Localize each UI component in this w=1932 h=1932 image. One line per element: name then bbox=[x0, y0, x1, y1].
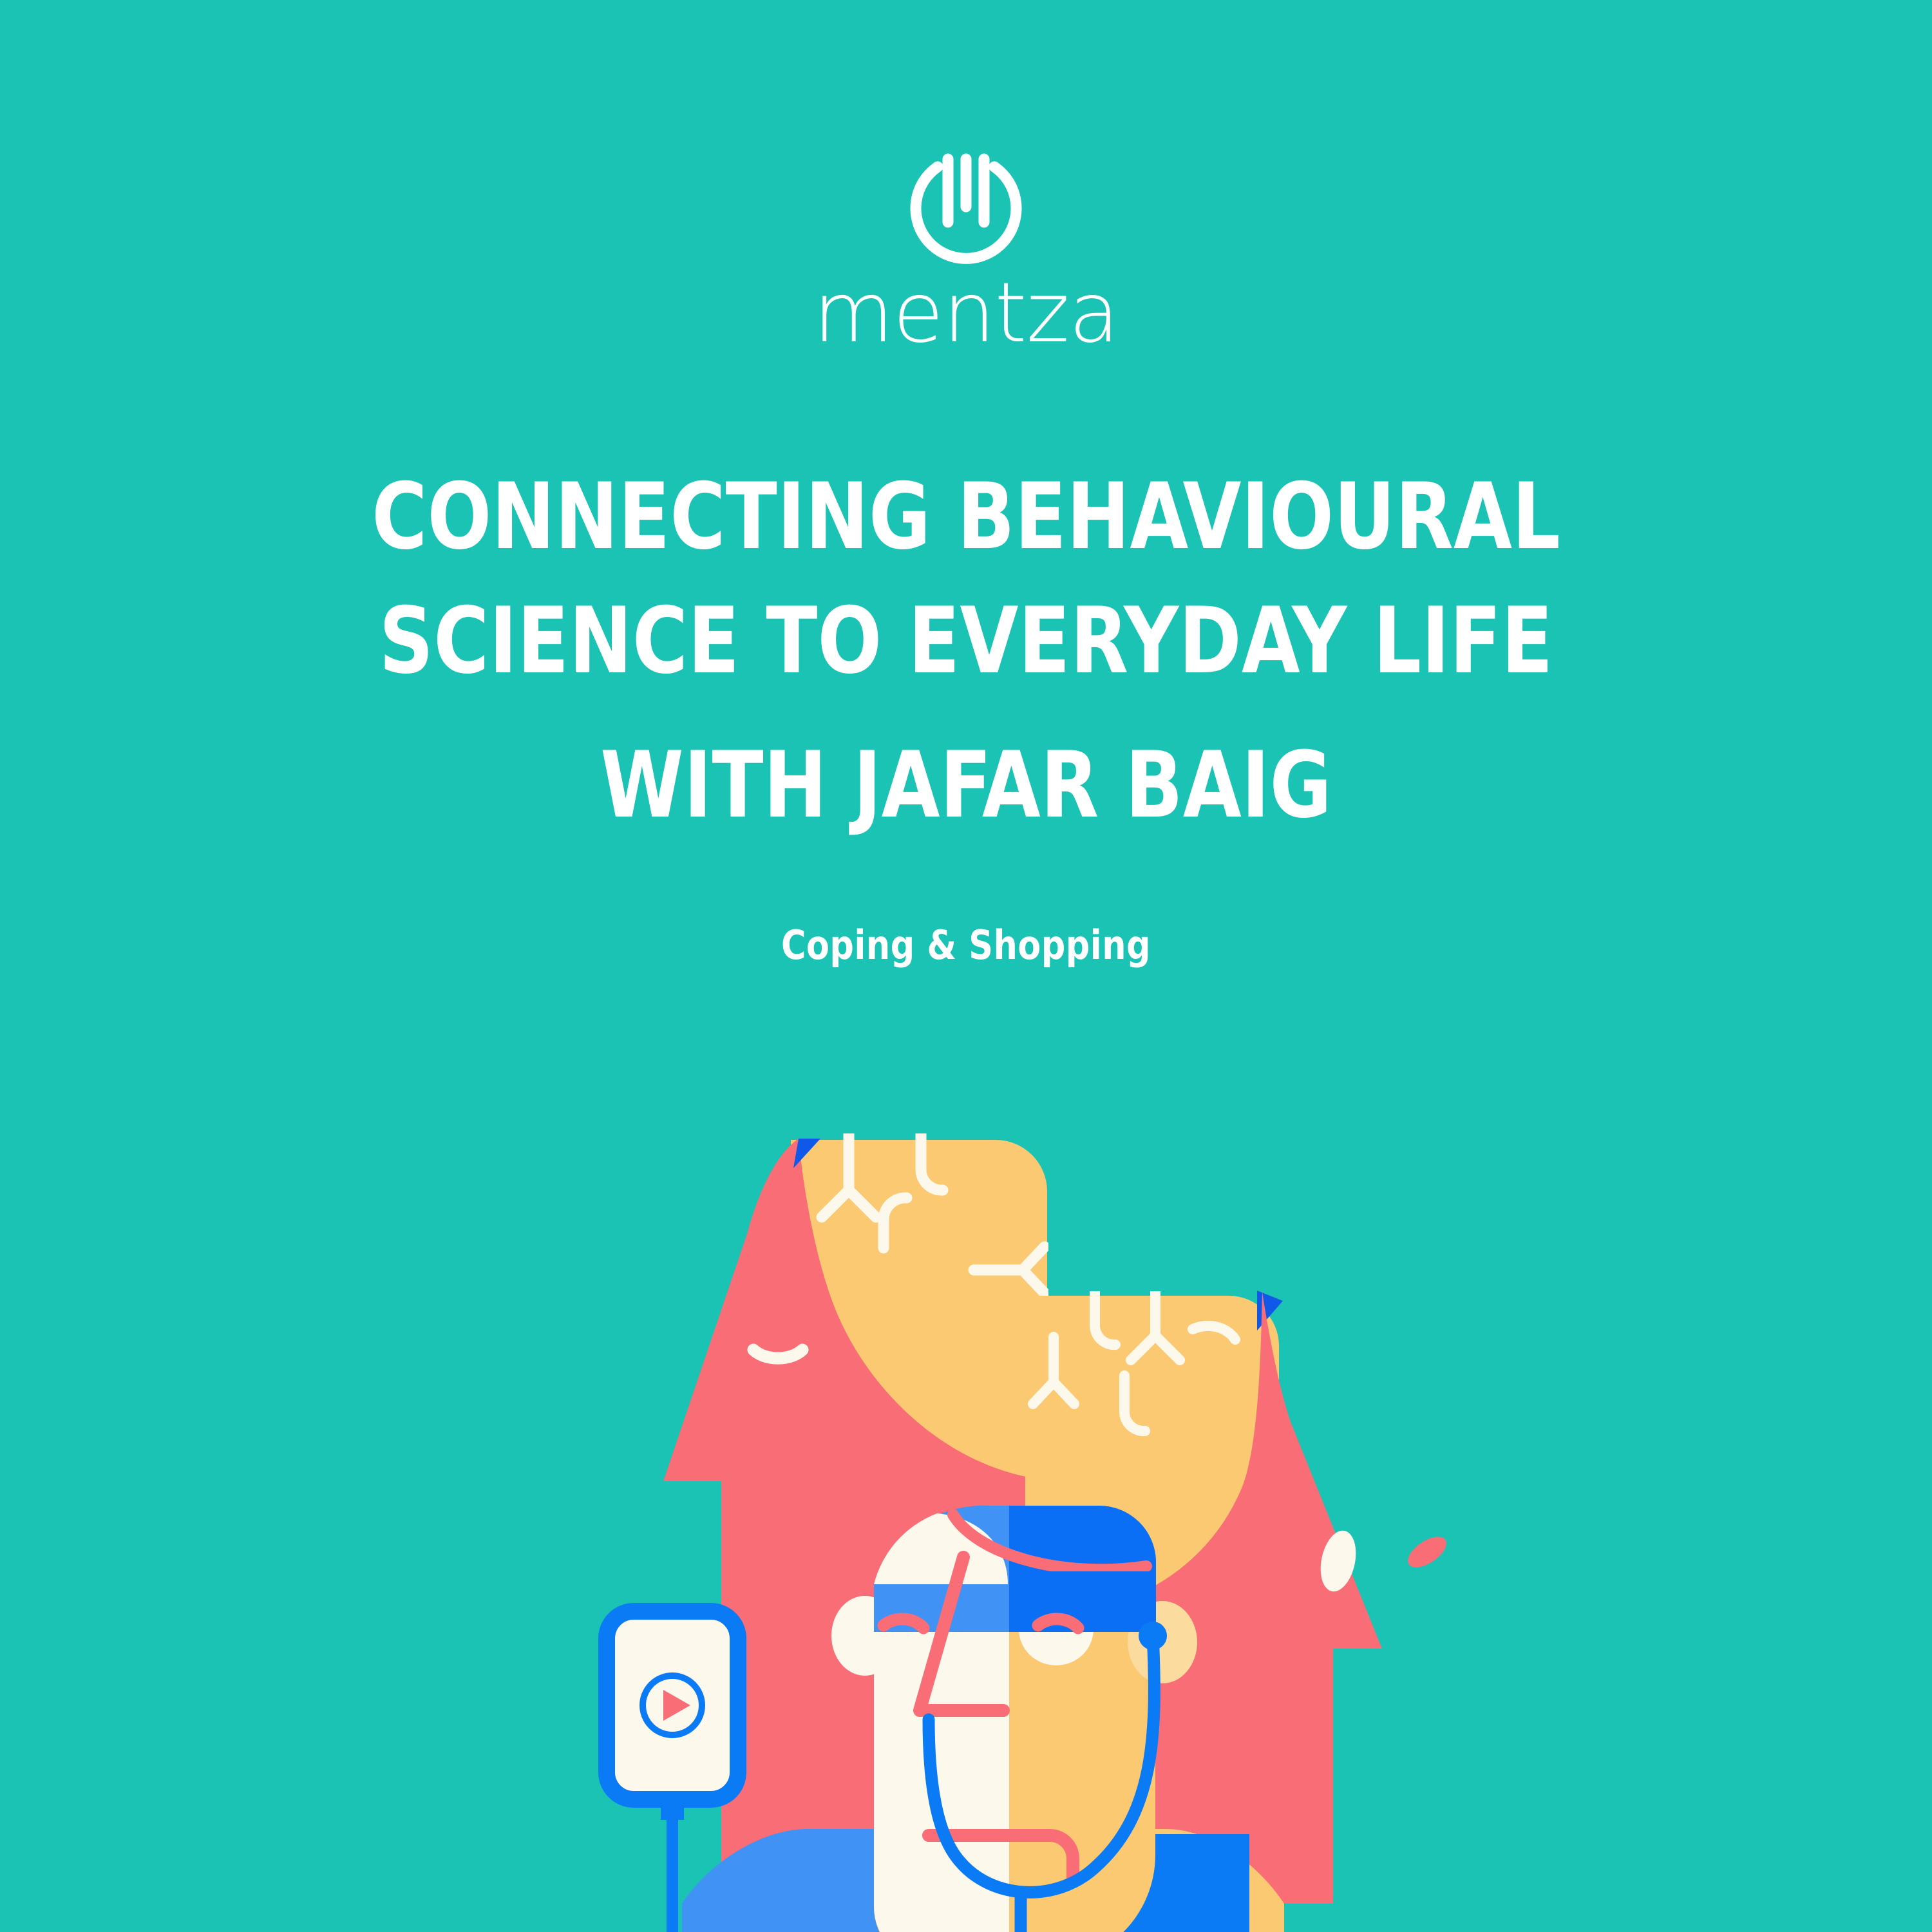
headline-line-3: WITH JAFAR BAIG bbox=[77, 755, 1855, 817]
poster-canvas: mentza CONNECTING BEHAVIOURAL SCIENCE TO… bbox=[0, 0, 1932, 1932]
wordmark: mentza bbox=[813, 272, 1119, 355]
face-hair bbox=[874, 1506, 1156, 1632]
hero-illustration bbox=[0, 1121, 1932, 1932]
left-shoulder bbox=[682, 1829, 898, 1932]
page-title: CONNECTING BEHAVIOURAL SCIENCE TO EVERYD… bbox=[0, 486, 1932, 817]
headline-line-1: CONNECTING BEHAVIOURAL bbox=[77, 486, 1855, 549]
headline-line-2: SCIENCE TO EVERYDAY LIFE bbox=[77, 611, 1855, 673]
subtitle: Coping & Shopping bbox=[58, 925, 1874, 965]
brand-lockup: mentza bbox=[0, 151, 1932, 355]
phone-connector bbox=[661, 1794, 684, 1820]
mentza-hand-power-icon bbox=[902, 151, 1030, 269]
right-figure-dash bbox=[1403, 1531, 1451, 1573]
center-listening-face bbox=[831, 1506, 1197, 1932]
